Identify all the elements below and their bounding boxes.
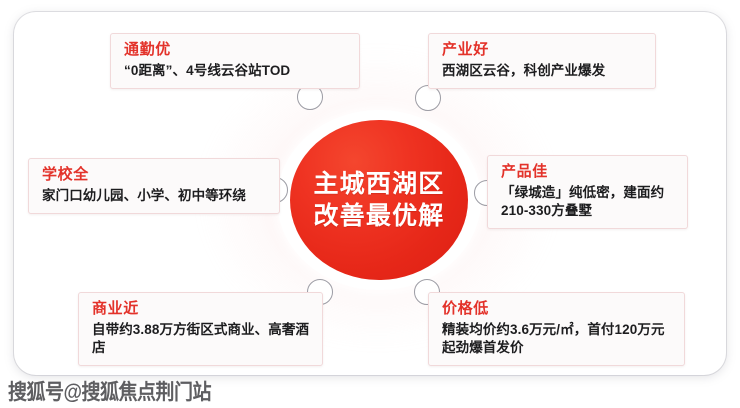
callout-title-school: 学校全 — [42, 166, 269, 185]
central-hub: 主城西湖区 改善最优解 — [290, 120, 468, 280]
callout-box-business: 商业近 自带约3.88万方街区式商业、高奢酒店 — [78, 292, 323, 366]
callout-box-product: 产品佳 「绿城造」纯低密，建面约210-330方叠墅 — [487, 155, 688, 229]
callout-title-industry: 产业好 — [442, 41, 645, 60]
hub-title-line-1: 主城西湖区 — [313, 169, 444, 200]
callout-title-business: 商业近 — [92, 300, 312, 319]
callout-box-price: 价格低 精装均价约3.6万元/㎡，首付120万元起劲爆首发价 — [428, 292, 685, 366]
watermark: 搜狐号@搜狐焦点荆门站 — [0, 375, 740, 405]
callout-box-industry: 产业好 西湖区云谷，科创产业爆发 — [428, 33, 656, 89]
watermark-text: 搜狐号@搜狐焦点荆门站 — [8, 375, 211, 405]
callout-body-product: 「绿城造」纯低密，建面约210-330方叠墅 — [501, 184, 677, 220]
infographic-canvas: 主城西湖区 改善最优解 通勤优 “0距离”、4号线云谷站TOD 产业好 西湖区云… — [0, 0, 740, 408]
callout-body-school: 家门口幼儿园、小学、初中等环绕 — [42, 187, 269, 205]
callout-box-school: 学校全 家门口幼儿园、小学、初中等环绕 — [28, 158, 280, 214]
callout-title-price: 价格低 — [442, 300, 674, 319]
callout-body-price: 精装均价约3.6万元/㎡，首付120万元起劲爆首发价 — [442, 321, 674, 357]
callout-body-commute: “0距离”、4号线云谷站TOD — [124, 62, 349, 80]
node-industry — [415, 85, 441, 111]
hub-title-line-2: 改善最优解 — [313, 201, 444, 232]
callout-box-commute: 通勤优 “0距离”、4号线云谷站TOD — [110, 33, 360, 89]
callout-body-industry: 西湖区云谷，科创产业爆发 — [442, 62, 645, 80]
callout-title-commute: 通勤优 — [124, 41, 349, 60]
callout-body-business: 自带约3.88万方街区式商业、高奢酒店 — [92, 321, 312, 357]
callout-title-product: 产品佳 — [501, 163, 677, 182]
